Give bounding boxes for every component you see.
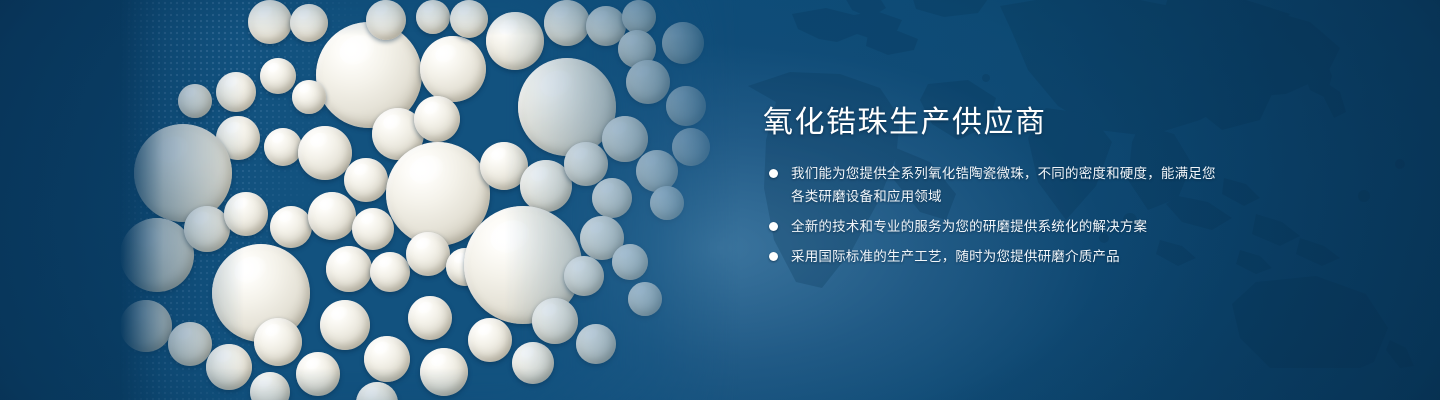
bead <box>414 96 460 142</box>
bead <box>298 126 352 180</box>
bead <box>206 344 252 390</box>
zirconia-beads-photo <box>120 0 740 400</box>
list-item: 全新的技术和专业的服务为您的研磨提供系统化的解决方案 <box>763 215 1223 238</box>
bead <box>564 256 604 296</box>
list-item: 我们能为您提供全系列氧化锆陶瓷微珠，不同的密度和硬度，能满足您各类研磨设备和应用… <box>763 162 1223 208</box>
bullet-text: 全新的技术和专业的服务为您的研磨提供系统化的解决方案 <box>791 215 1223 238</box>
list-item: 采用国际标准的生产工艺，随时为您提供研磨介质产品 <box>763 245 1223 268</box>
banner-headline: 氧化锆珠生产供应商 <box>763 106 1223 140</box>
bead <box>352 208 394 250</box>
bead <box>264 128 302 166</box>
bead <box>270 206 312 248</box>
bead <box>626 60 670 104</box>
bead <box>420 36 486 102</box>
bullet-text: 我们能为您提供全系列氧化锆陶瓷微珠，不同的密度和硬度，能满足您各类研磨设备和应用… <box>791 162 1223 208</box>
bead <box>260 58 296 94</box>
bead <box>292 80 326 114</box>
bead <box>420 348 468 396</box>
bead <box>296 352 340 396</box>
bead <box>416 0 450 34</box>
bead <box>512 342 554 384</box>
bead <box>344 158 388 202</box>
bead <box>254 318 302 366</box>
bead <box>364 336 410 382</box>
bead <box>612 244 648 280</box>
bead <box>326 246 372 292</box>
bead <box>290 4 328 42</box>
bead <box>224 192 268 236</box>
hero-banner: 氧化锆珠生产供应商 我们能为您提供全系列氧化锆陶瓷微珠，不同的密度和硬度，能满足… <box>0 0 1440 400</box>
bead <box>532 298 578 344</box>
bead <box>406 232 450 276</box>
bead <box>602 116 648 162</box>
bead <box>308 192 356 240</box>
bead <box>628 282 662 316</box>
bead <box>408 296 452 340</box>
bead <box>168 322 212 366</box>
bead <box>450 0 488 38</box>
banner-content: 氧化锆珠生产供应商 我们能为您提供全系列氧化锆陶瓷微珠，不同的密度和硬度，能满足… <box>763 106 1223 268</box>
bead <box>370 252 410 292</box>
bead <box>592 178 632 218</box>
bead <box>366 0 406 40</box>
bead <box>622 0 656 34</box>
bead <box>650 186 684 220</box>
bead <box>120 218 194 292</box>
bead <box>666 86 706 126</box>
bead <box>120 300 172 352</box>
bead <box>178 84 212 118</box>
bead <box>248 0 292 44</box>
bead <box>564 142 608 186</box>
bead <box>320 300 370 350</box>
bead <box>468 318 512 362</box>
bead <box>216 72 256 112</box>
bead <box>486 12 544 70</box>
bullet-dot-icon <box>769 252 778 261</box>
bullet-dot-icon <box>769 222 778 231</box>
feature-bullet-list: 我们能为您提供全系列氧化锆陶瓷微珠，不同的密度和硬度，能满足您各类研磨设备和应用… <box>763 162 1223 268</box>
bead <box>576 324 616 364</box>
bead <box>134 124 232 222</box>
bead <box>672 128 710 166</box>
bullet-dot-icon <box>769 169 778 178</box>
bead <box>662 22 704 64</box>
bead <box>544 0 590 46</box>
bullet-text: 采用国际标准的生产工艺，随时为您提供研磨介质产品 <box>791 245 1223 268</box>
